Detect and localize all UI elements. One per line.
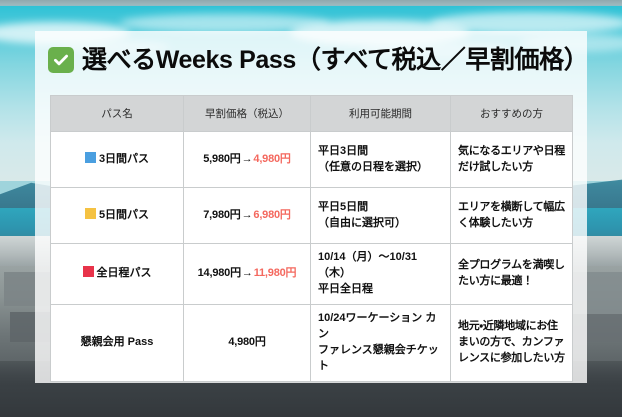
table-row: 全日程パス 14,980円→11,980円 10/14（月）～10/31（木） … <box>51 244 573 305</box>
price-arrow-icon: → <box>241 267 254 279</box>
original-price: 14,980円 <box>198 267 241 279</box>
term-line-2: ファレンス懇親会チケット <box>318 343 443 375</box>
pass-name-label: 5日間パス <box>99 209 149 221</box>
table-header: パス名 早割価格（税込） 利用可能期間 おすすめの方 <box>51 96 573 132</box>
cell-price: 4,980円 <box>184 304 311 381</box>
color-swatch-icon <box>85 152 96 163</box>
term-line-2: （自由に選択可） <box>318 216 443 232</box>
pass-name-label: 懇親会用 Pass <box>81 336 154 348</box>
cell-term: 10/14（月）～10/31（木） 平日全日程 <box>311 244 451 305</box>
column-header-pass-name: パス名 <box>51 96 184 132</box>
cell-pass-name: 5日間パス <box>51 188 184 244</box>
term-line-1: 10/14（月）～10/31（木） <box>318 250 443 282</box>
term-line-2: （任意の日程を選択） <box>318 160 443 176</box>
cell-pass-name: 懇親会用 Pass <box>51 304 184 381</box>
cell-price: 5,980円→4,980円 <box>184 132 311 188</box>
cell-term: 平日5日間 （自由に選択可） <box>311 188 451 244</box>
cell-recommend: エリアを横断して幅広く体験したい方 <box>451 188 573 244</box>
cell-pass-name: 全日程パス <box>51 244 184 305</box>
content-panel: 選べるWeeks Pass（すべて税込／早割価格） パス名 早割価格（税込） 利… <box>35 31 587 383</box>
cell-pass-name: 3日間パス <box>51 132 184 188</box>
table-row: 3日間パス 5,980円→4,980円 平日3日間 （任意の日程を選択） 気にな… <box>51 132 573 188</box>
table-row: 懇親会用 Pass 4,980円 10/24ワーケーション カン ファレンス懇親… <box>51 304 573 381</box>
pass-name-label: 3日間パス <box>99 153 149 165</box>
column-header-recommend: おすすめの方 <box>451 96 573 132</box>
discount-price: 6,980円 <box>253 209 290 221</box>
original-price: 5,980円 <box>203 153 240 165</box>
cell-recommend: 全プログラムを満喫したい方に最適！ <box>451 244 573 305</box>
discount-price: 11,980円 <box>254 267 297 279</box>
price-arrow-icon: → <box>241 153 254 165</box>
term-line-1: 平日3日間 <box>318 144 443 160</box>
title-row: 選べるWeeks Pass（すべて税込／早割価格） <box>35 31 587 79</box>
column-header-price: 早割価格（税込） <box>184 96 311 132</box>
cell-price: 7,980円→6,980円 <box>184 188 311 244</box>
term-line-1: 平日5日間 <box>318 200 443 216</box>
original-price: 7,980円 <box>203 209 240 221</box>
cell-recommend: 地元・近隣地域にお住まいの方で、カンファレンスに参加したい方 <box>451 304 573 381</box>
color-swatch-icon <box>85 208 96 219</box>
check-badge-icon <box>48 47 74 73</box>
discount-price: 4,980円 <box>253 153 290 165</box>
color-swatch-icon <box>83 266 94 277</box>
table-body: 3日間パス 5,980円→4,980円 平日3日間 （任意の日程を選択） 気にな… <box>51 132 573 382</box>
table-row: 5日間パス 7,980円→6,980円 平日5日間 （自由に選択可） エリアを横… <box>51 188 573 244</box>
table-header-row: パス名 早割価格（税込） 利用可能期間 おすすめの方 <box>51 96 573 132</box>
page-title: 選べるWeeks Pass（すべて税込／早割価格） <box>82 48 588 73</box>
price-arrow-icon: → <box>241 209 254 221</box>
cell-recommend: 気になるエリアや日程だけ試したい方 <box>451 132 573 188</box>
term-line-1: 10/24ワーケーション カン <box>318 311 443 343</box>
cell-price: 14,980円→11,980円 <box>184 244 311 305</box>
term-line-2: 平日全日程 <box>318 282 443 298</box>
column-header-term: 利用可能期間 <box>311 96 451 132</box>
pass-table: パス名 早割価格（税込） 利用可能期間 おすすめの方 3日間パス 5,980円→… <box>50 95 573 382</box>
pass-name-label: 全日程パス <box>97 267 152 279</box>
flat-price: 4,980円 <box>228 336 265 348</box>
cell-term: 10/24ワーケーション カン ファレンス懇親会チケット <box>311 304 451 381</box>
cell-term: 平日3日間 （任意の日程を選択） <box>311 132 451 188</box>
